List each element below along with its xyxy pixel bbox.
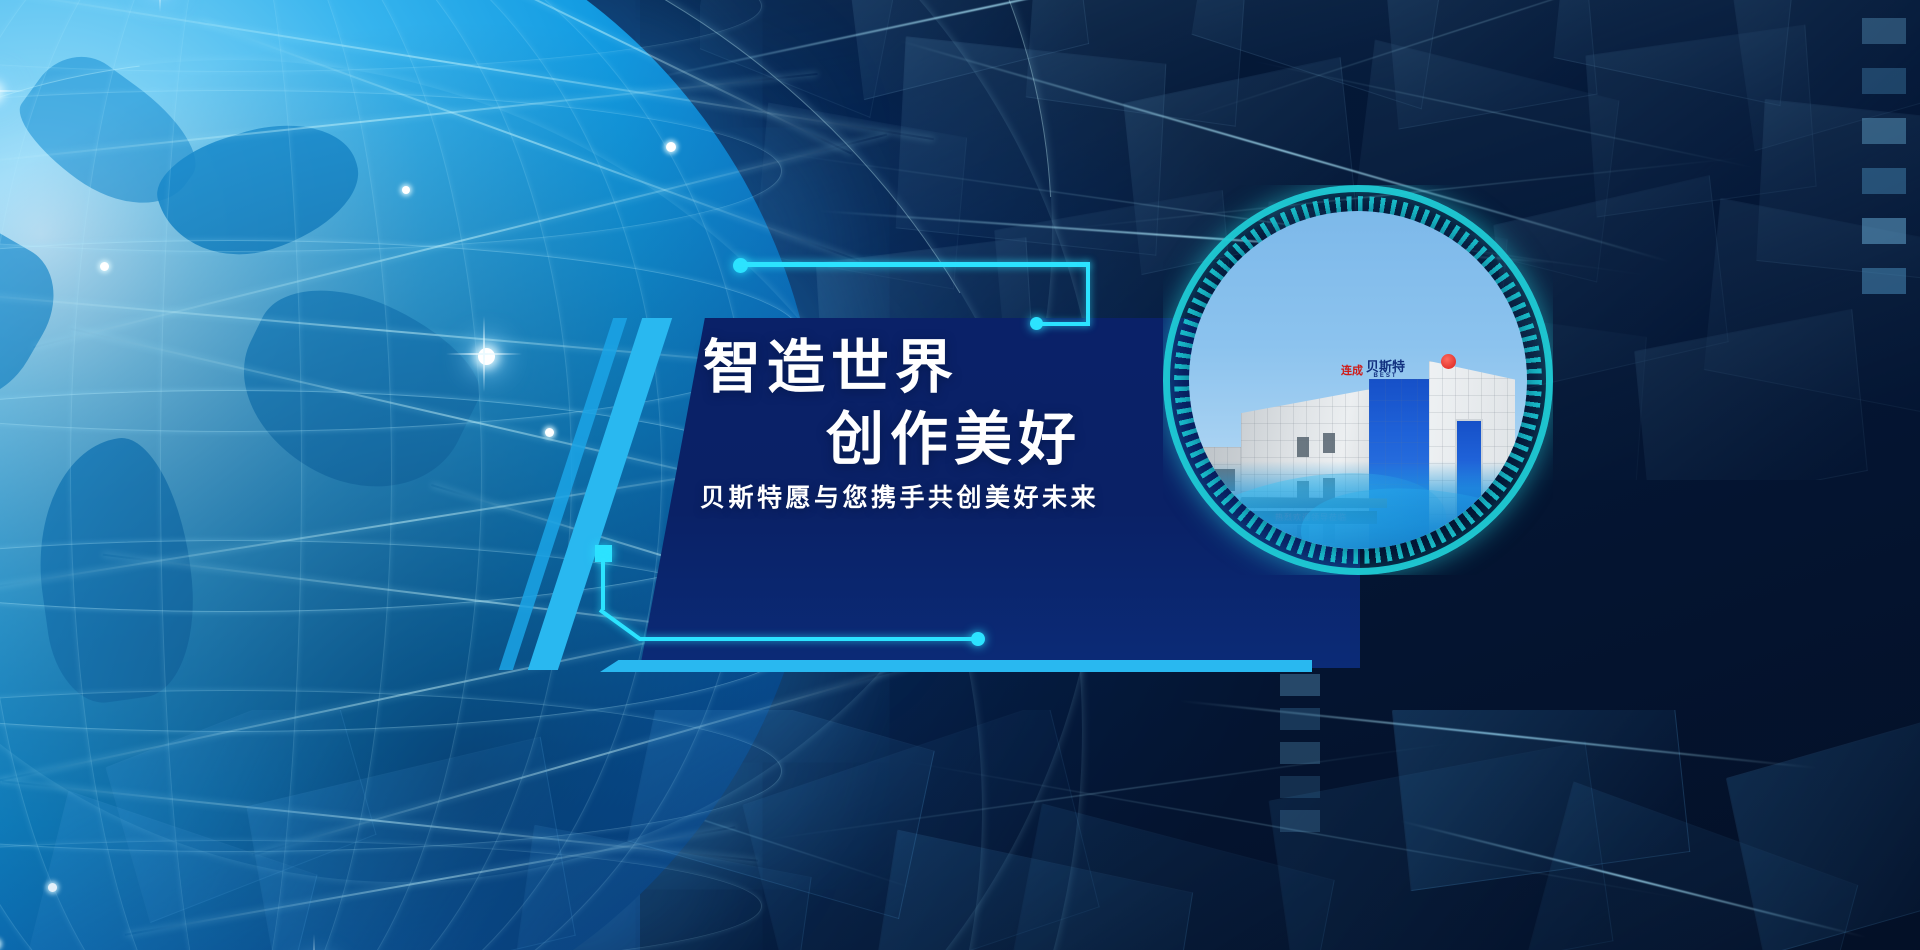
dash-mark bbox=[1862, 18, 1906, 44]
hero-banner: 智造世界 创作美好 贝斯特愿与您携手共创美好未来 bbox=[0, 0, 1920, 950]
panel-bottom-band bbox=[600, 660, 1312, 672]
glass-shard bbox=[1726, 710, 1920, 950]
dash-mark bbox=[1862, 268, 1906, 294]
dash-mark bbox=[1862, 218, 1906, 244]
sign-brand-cn: 贝斯特 bbox=[1366, 360, 1405, 373]
rooftop-sign-secondary bbox=[1441, 354, 1456, 369]
sign-secondary-logo: 连成 bbox=[1341, 362, 1363, 378]
accent-dot-bottom-right bbox=[971, 632, 985, 646]
window bbox=[1323, 433, 1335, 453]
accent-bracket-vertical bbox=[601, 558, 605, 610]
accent-line-top-long bbox=[740, 262, 1090, 267]
dash-mark bbox=[1862, 68, 1906, 94]
accent-line-bottom-long bbox=[639, 637, 979, 641]
company-photo-circle: 连成 贝斯特 BEST 热烈欢迎领导莅临 bbox=[1163, 185, 1553, 575]
dash-mark bbox=[1280, 674, 1320, 696]
banner-subtitle: 贝斯特愿与您携手共创美好未来 bbox=[700, 478, 1099, 514]
accent-line-top-vertical bbox=[1086, 262, 1090, 324]
bottom-glass-shards bbox=[0, 710, 1920, 950]
rooftop-sign-primary: 连成 贝斯特 BEST bbox=[1341, 360, 1405, 379]
dash-mark bbox=[1862, 118, 1906, 144]
dash-mark bbox=[1862, 168, 1906, 194]
sign-circle-logo-icon bbox=[1441, 354, 1456, 369]
headline-line-2: 创作美好 bbox=[826, 392, 1082, 476]
company-building-photo: 连成 贝斯特 BEST 热烈欢迎领导莅临 bbox=[1189, 211, 1527, 549]
window bbox=[1297, 437, 1309, 457]
accent-dot-top-right bbox=[1030, 317, 1043, 330]
